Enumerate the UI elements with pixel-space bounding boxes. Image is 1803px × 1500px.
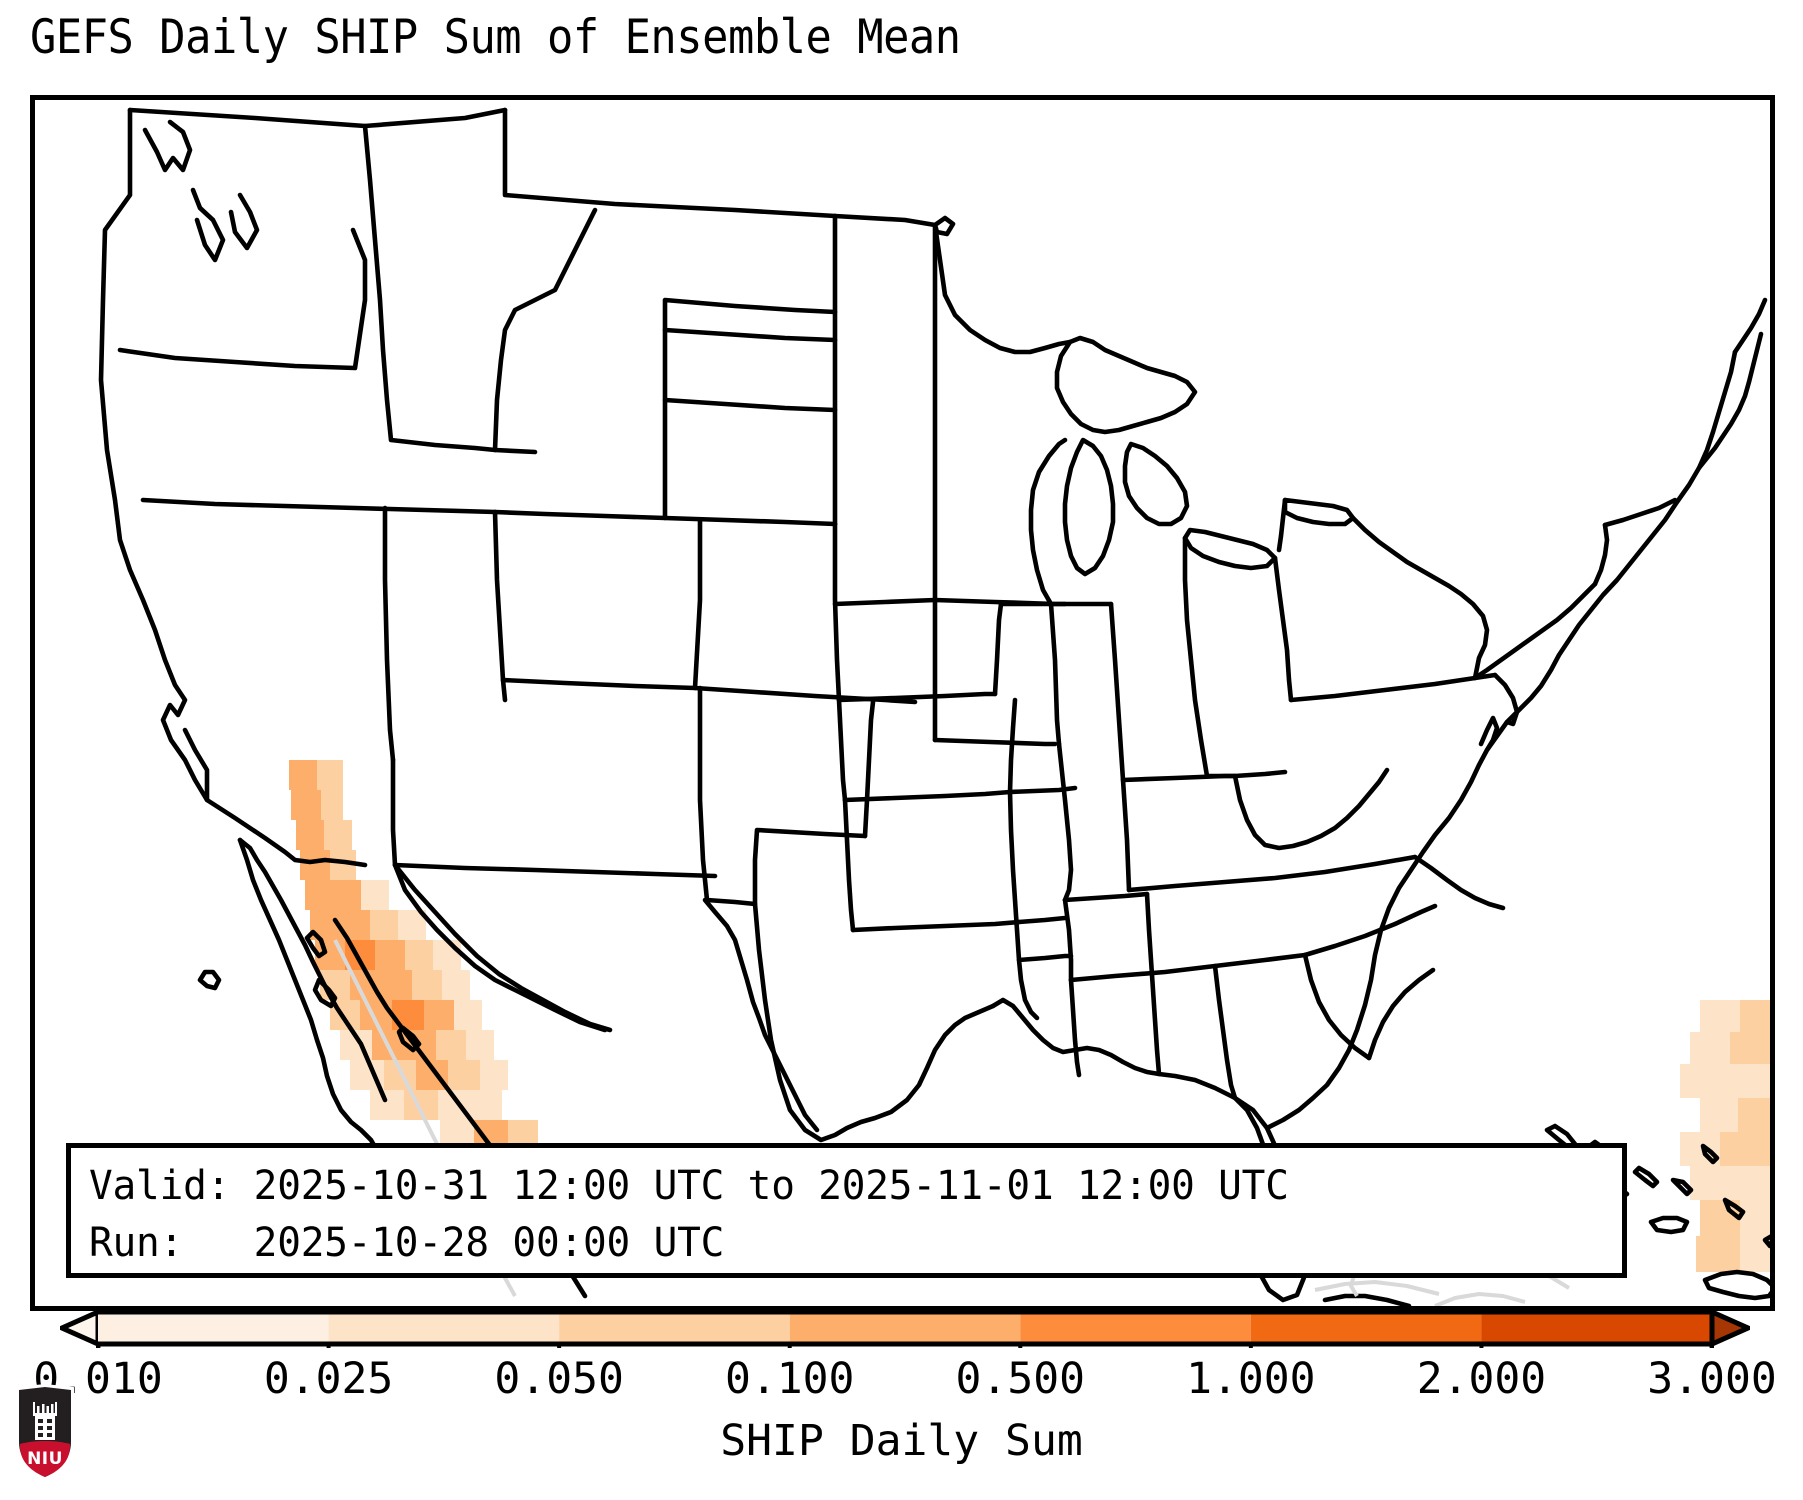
forecast-info-box: Valid: 2025-10-31 12:00 UTC to 2025-11-0… [66,1143,1627,1278]
niu-logo-text: NIU [27,1449,63,1469]
niu-logo[interactable]: NIU [14,1384,76,1480]
run-time-line: Run: 2025-10-28 00:00 UTC [89,1215,1599,1272]
colorbar-tick-label: 1.000 [1186,1354,1315,1404]
colorbar-swatches [60,1308,1750,1348]
figure-canvas: GEFS Daily SHIP Sum of Ensemble Mean [0,0,1803,1500]
colorbar-band [790,1312,1021,1344]
colorbar-tick-label: 2.000 [1417,1354,1546,1404]
map-inner [35,100,1770,1306]
colorbar-band [329,1312,560,1344]
colorbar-band [98,1312,329,1344]
colorbar-tick-label: 0.050 [494,1354,623,1404]
colorbar-tick-label: 0.025 [264,1354,393,1404]
niu-shield-icon: NIU [14,1384,76,1480]
colorbar-under-arrow [62,1312,98,1344]
valid-time-line: Valid: 2025-10-31 12:00 UTC to 2025-11-0… [89,1158,1599,1215]
map-geography [35,100,1770,1306]
colorbar-band [1251,1312,1482,1344]
colorbar-tick-label: 0.100 [725,1354,854,1404]
map-panel[interactable] [30,95,1775,1311]
colorbar-band [559,1312,790,1344]
colorbar-tick-label: 3.000 [1647,1354,1776,1404]
colorbar-over-arrow [1712,1312,1748,1344]
colorbar-band [1020,1312,1251,1344]
page-title: GEFS Daily SHIP Sum of Ensemble Mean [30,8,1648,68]
colorbar-axis-label: SHIP Daily Sum [0,1415,1803,1467]
colorbar-band [1481,1312,1712,1344]
colorbar-tick-labels: 0.0100.0250.0500.1000.5001.0002.0003.000 [60,1354,1750,1406]
colorbar-tick-label: 0.500 [956,1354,1085,1404]
colorbar[interactable] [60,1308,1750,1348]
